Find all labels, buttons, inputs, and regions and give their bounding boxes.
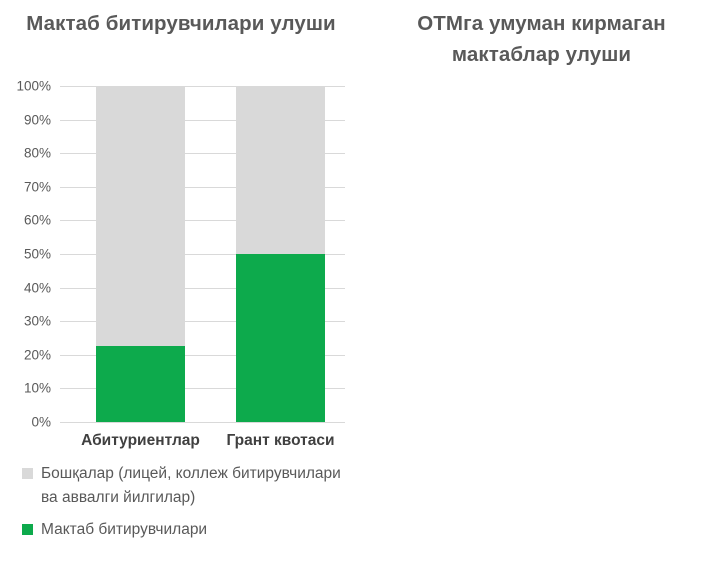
x-axis-line (60, 422, 345, 423)
y-axis-tick-label: 50% (24, 247, 51, 262)
legend-item[interactable]: Мактаб битирувчилари (22, 518, 352, 542)
y-axis-tick-label: 20% (24, 347, 51, 362)
chart-title-left: Мактаб битирувчилари улуши (0, 8, 362, 39)
bar-segment[interactable] (96, 346, 185, 422)
bar-segment[interactable] (236, 254, 325, 422)
bar-column[interactable]: Абитуриентлар (96, 86, 185, 422)
chart-panel-right: ОТМга умуман кирмаган мактаблар улуши 10… (362, 0, 721, 586)
y-axis-tick-label: 10% (24, 381, 51, 396)
y-axis-tick-label: 30% (24, 314, 51, 329)
legend-swatch-icon (22, 524, 33, 535)
y-axis-tick-label: 100% (16, 79, 51, 94)
x-axis-category-label: Абитуриентлар (81, 432, 200, 450)
y-axis-tick-label: 40% (24, 280, 51, 295)
y-axis-tick-label: 60% (24, 213, 51, 228)
dashboard-charts: Мактаб битирувчилари улуши 100%90%80%70%… (0, 0, 721, 586)
y-axis-tick-label: 70% (24, 179, 51, 194)
legend-item[interactable]: Бошқалар (лицей, коллеж битирувчилари ва… (22, 462, 352, 510)
y-axis-tick-label: 80% (24, 146, 51, 161)
legend-swatch-icon (22, 468, 33, 479)
chart-panel-left: Мактаб битирувчилари улуши 100%90%80%70%… (0, 0, 362, 586)
y-axis-tick-label: 0% (31, 415, 51, 430)
x-axis-category-label: Грант квотаси (226, 432, 334, 450)
legend-left: Бошқалар (лицей, коллеж битирувчилари ва… (22, 462, 352, 550)
y-axis-tick-label: 90% (24, 112, 51, 127)
bar-segment[interactable] (96, 86, 185, 346)
chart-title-right: ОТМга умуман кирмаган мактаблар улуши (362, 8, 721, 70)
bar-column[interactable]: Грант квотаси (236, 86, 325, 422)
bar-segment[interactable] (236, 86, 325, 254)
legend-label: Мактаб битирувчилари (41, 518, 352, 542)
plot-area-left: 100%90%80%70%60%50%40%30%20%10%0%Абитури… (60, 86, 345, 422)
legend-label: Бошқалар (лицей, коллеж битирувчилари ва… (41, 462, 352, 510)
